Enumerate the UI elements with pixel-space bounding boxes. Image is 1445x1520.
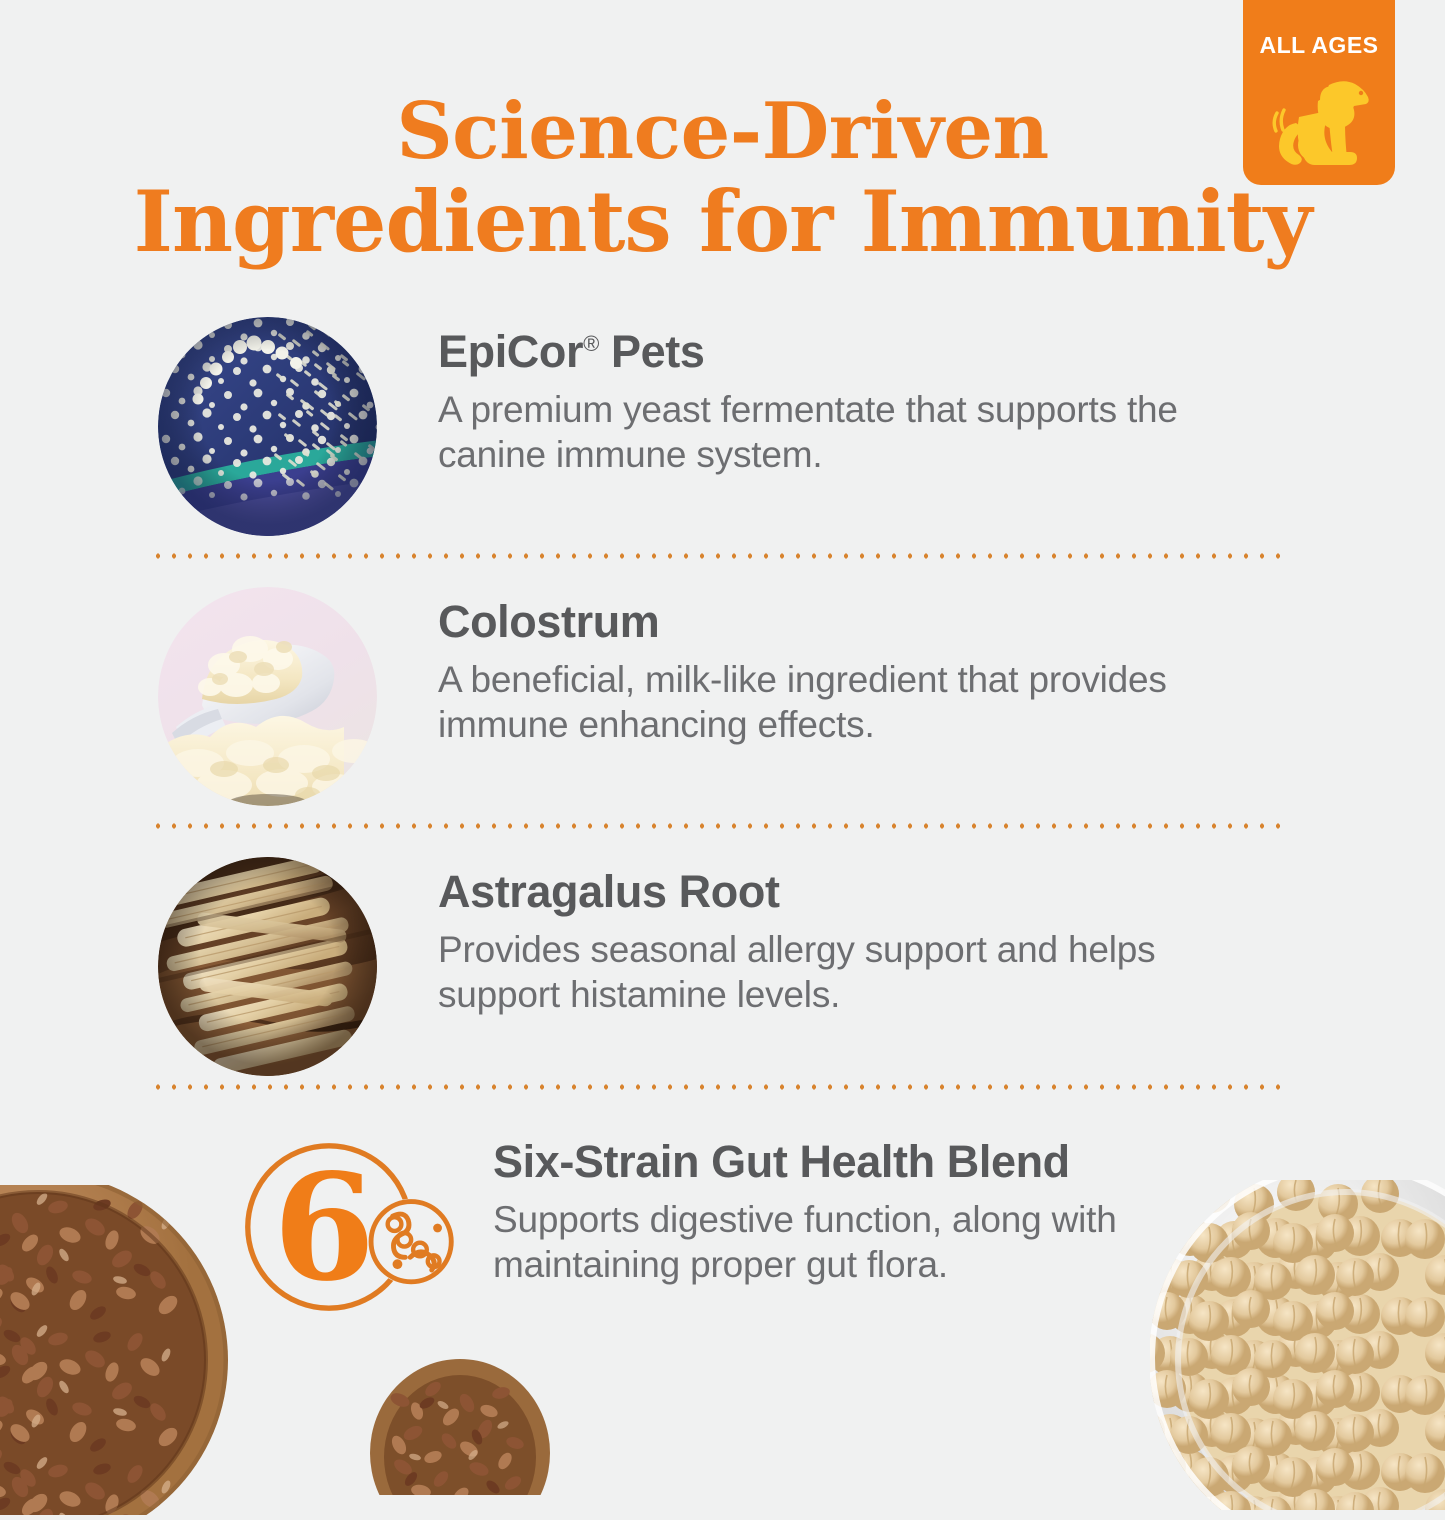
- ingredient-row-astragalus-root: Astragalus Root Provides seasonal allerg…: [0, 840, 1445, 1110]
- astragalus-root-text: Astragalus Root Provides seasonal allerg…: [438, 840, 1178, 1018]
- registered-trademark-icon: ®: [583, 331, 599, 356]
- epicor-pets-heading: EpiCor® Pets: [438, 328, 1178, 375]
- all-ages-badge: ALL AGES: [1243, 0, 1395, 185]
- six-strain-icon: 6: [238, 1114, 463, 1339]
- colostrum-heading: Colostrum: [438, 598, 1178, 645]
- ingredient-row-epicor-pets: EpiCor® Pets A premium yeast fermentate …: [0, 300, 1445, 570]
- six-strain-gut-health-blend-text: Six-Strain Gut Health Blend Supports dig…: [493, 1110, 1233, 1288]
- colostrum-text: Colostrum A beneficial, milk-like ingred…: [438, 570, 1178, 748]
- six-strain-gut-health-blend-description: Supports digestive function, along with …: [493, 1197, 1233, 1287]
- epicor-pets-thumbnail: [155, 314, 380, 539]
- ingredient-list: EpiCor® Pets A premium yeast fermentate …: [0, 300, 1445, 1380]
- page-title-line2: Ingredients for Immunity: [0, 175, 1445, 269]
- ingredient-row-colostrum: Colostrum A beneficial, milk-like ingred…: [0, 570, 1445, 840]
- six-numeral: 6: [273, 1140, 375, 1313]
- page-title-line1: Science-Driven: [396, 86, 1048, 177]
- colostrum-thumbnail: [155, 584, 380, 809]
- astragalus-root-description: Provides seasonal allergy support and he…: [438, 927, 1178, 1017]
- epicor-pets-heading-suffix: Pets: [599, 326, 705, 377]
- epicor-pets-description: A premium yeast fermentate that supports…: [438, 387, 1178, 477]
- divider-1: [155, 552, 1285, 560]
- epicor-pets-heading-main: EpiCor: [438, 326, 583, 377]
- six-strain-gut-health-blend-heading: Six-Strain Gut Health Blend: [493, 1138, 1233, 1185]
- colostrum-description: A beneficial, milk-like ingredient that …: [438, 657, 1178, 747]
- divider-3: [155, 1083, 1285, 1091]
- all-ages-badge-label: ALL AGES: [1259, 32, 1378, 59]
- epicor-pets-text: EpiCor® Pets A premium yeast fermentate …: [438, 300, 1178, 478]
- divider-2: [155, 822, 1285, 830]
- ingredient-row-six-strain-gut-health-blend: 6: [0, 1110, 1445, 1380]
- astragalus-root-heading: Astragalus Root: [438, 868, 1178, 915]
- sitting-dog-icon: [1263, 65, 1375, 182]
- astragalus-root-thumbnail: [155, 854, 380, 1079]
- page-title: Science-Driven Ingredients for Immunity: [0, 88, 1445, 269]
